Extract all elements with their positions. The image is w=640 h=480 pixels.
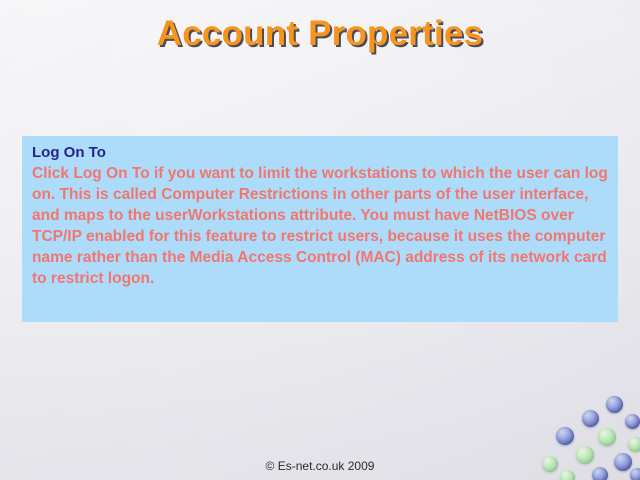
decorative-sphere xyxy=(556,427,574,445)
title-area: Account Properties xyxy=(0,14,640,54)
page-title: Account Properties xyxy=(157,14,483,54)
content-box: Log On To Click Log On To if you want to… xyxy=(22,136,618,322)
footer-copyright: © Es-net.co.uk 2009 xyxy=(0,459,640,473)
decorative-sphere xyxy=(598,428,616,446)
decorative-sphere xyxy=(625,414,640,429)
decorative-sphere xyxy=(582,410,599,427)
content-heading: Log On To xyxy=(32,143,610,162)
decorative-sphere xyxy=(628,437,640,452)
slide-canvas: Account Properties Log On To Click Log O… xyxy=(0,0,640,480)
content-body-text: Click Log On To if you want to limit the… xyxy=(32,163,610,289)
decorative-sphere xyxy=(606,396,623,413)
